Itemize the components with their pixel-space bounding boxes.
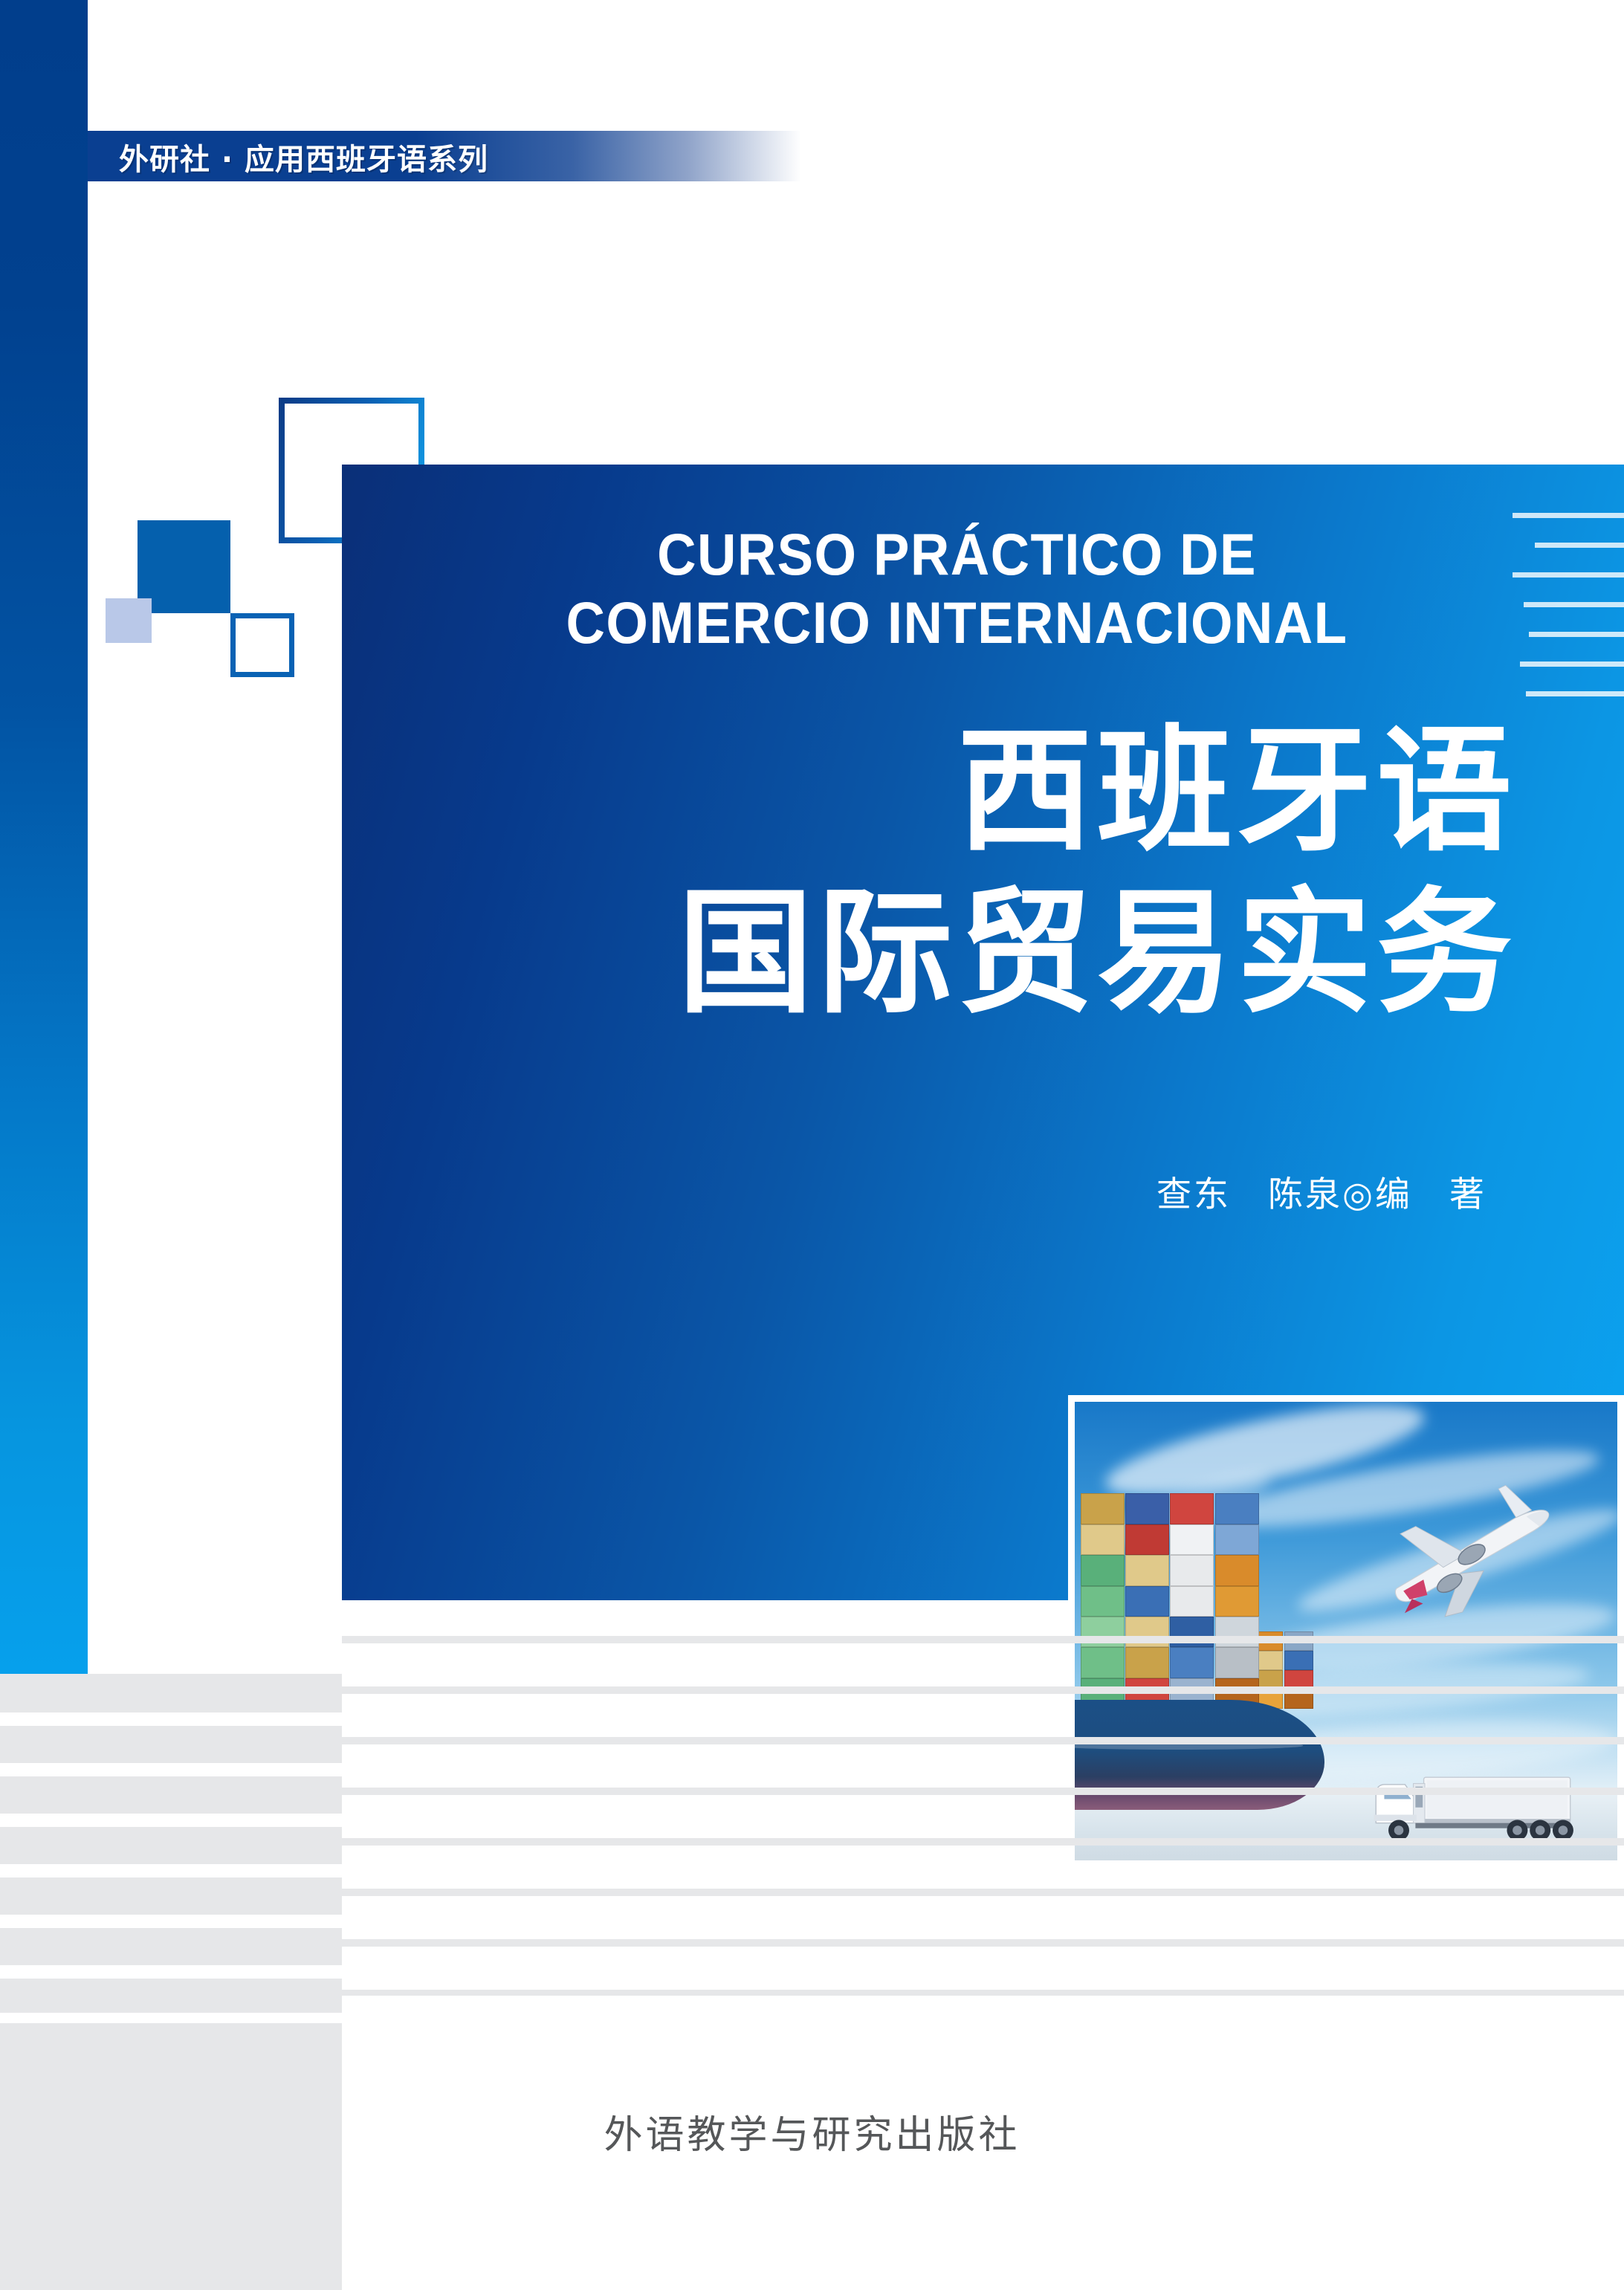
shipping-container (1170, 1555, 1214, 1585)
decorative-square-outline-small (230, 613, 294, 677)
decorative-stripe (0, 1827, 342, 1864)
shipping-container (1215, 1493, 1259, 1524)
decorative-stripe (0, 1877, 342, 1915)
publisher-name: 外语教学与研究出版社 (0, 2103, 1624, 2159)
bottom-stripes-right (342, 1600, 1624, 2290)
decorative-stripe (342, 1889, 1624, 1896)
spanish-subtitle-line-2: COMERCIO INTERNACIONAL (391, 589, 1523, 657)
container-row (1080, 1493, 1259, 1524)
decorative-stripe (342, 1636, 1624, 1643)
decorative-stripe (342, 1788, 1624, 1795)
decorative-stripe (0, 1979, 342, 2013)
shipping-container (1170, 1493, 1214, 1524)
chinese-title-line-1: 西班牙语 (342, 710, 1516, 872)
shipping-container (1215, 1524, 1259, 1555)
spanish-subtitle-line-1: CURSO PRÁCTICO DE (391, 520, 1523, 589)
decorative-stripe (342, 1939, 1624, 1947)
container-row (1080, 1555, 1259, 1585)
shipping-container (1170, 1524, 1214, 1555)
shipping-container (1125, 1555, 1169, 1585)
book-cover: 外研社 · 应用西班牙语系列 CURSO PRÁCTICO DE COMERCI… (0, 0, 1624, 2290)
shipping-container (1081, 1493, 1125, 1524)
decorative-stripe (342, 1990, 1624, 1996)
decorative-stripe (0, 1674, 342, 1712)
chinese-title-line-2: 国际贸易实务 (342, 872, 1516, 1034)
decorative-hairlines (1513, 513, 1624, 736)
series-label: 外研社 · 应用西班牙语系列 (119, 135, 488, 178)
page-title: 西班牙语 国际贸易实务 (342, 710, 1546, 1035)
shipping-container (1125, 1524, 1169, 1555)
decorative-stripe (342, 1737, 1624, 1744)
spanish-subtitle: CURSO PRÁCTICO DE COMERCIO INTERNACIONAL (391, 520, 1523, 658)
shipping-container (1081, 1524, 1125, 1555)
container-row (1080, 1524, 1259, 1555)
shipping-container (1081, 1555, 1125, 1585)
decorative-stripe (0, 1776, 342, 1814)
decorative-stripe (0, 1726, 342, 1763)
decorative-square-pale-small (106, 598, 152, 643)
shipping-container (1215, 1555, 1259, 1585)
bottom-stripes-left (0, 1674, 342, 2290)
shipping-container (1125, 1493, 1169, 1524)
decorative-stripe (342, 1838, 1624, 1846)
author-line: 查东 陈泉◎编 著 (342, 1165, 1546, 1217)
decorative-stripe (342, 1686, 1624, 1694)
decorative-stripe (0, 1928, 342, 1965)
left-spine-gradient (0, 0, 88, 1674)
